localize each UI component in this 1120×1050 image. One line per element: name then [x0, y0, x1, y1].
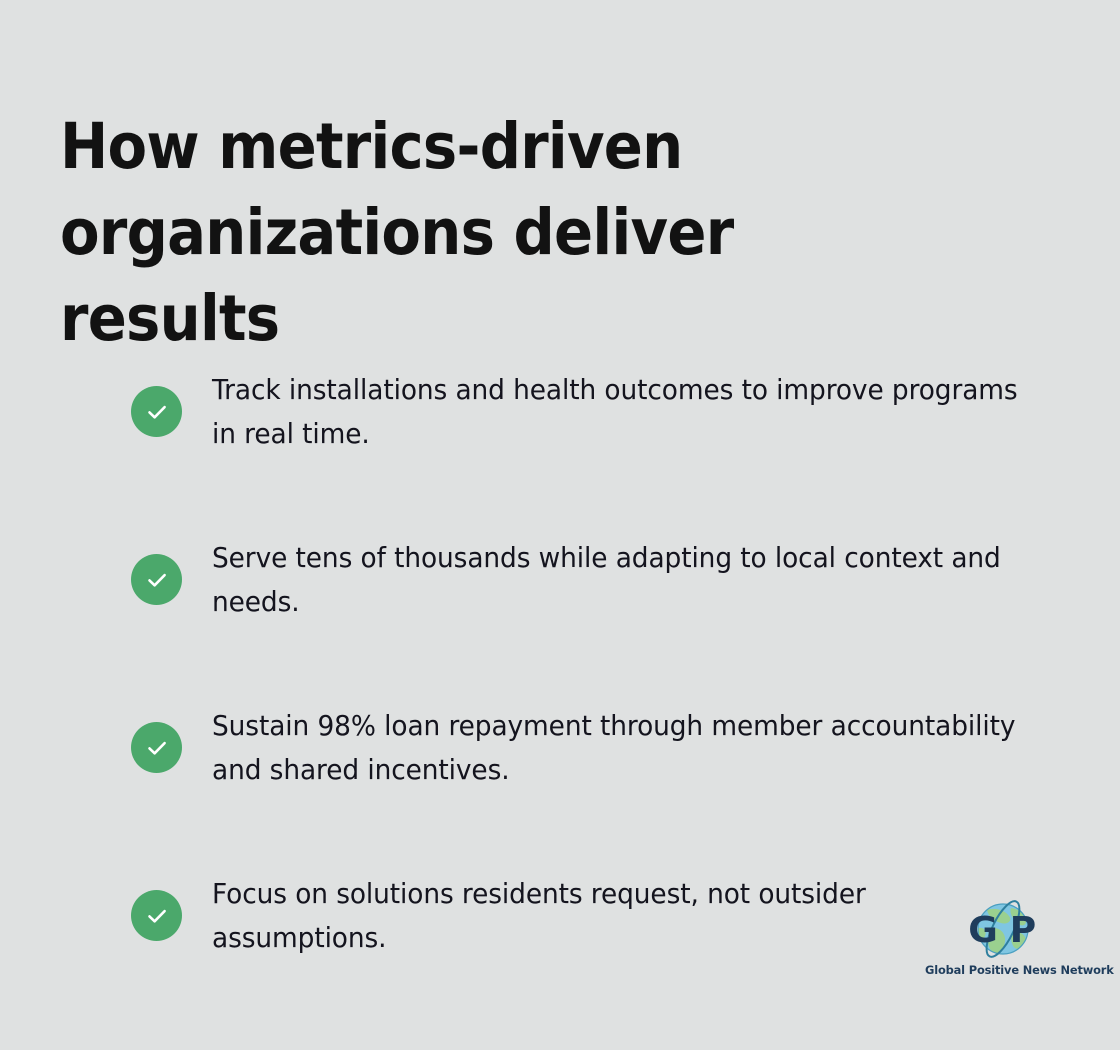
list-item: Track installations and health outcomes …	[131, 364, 1061, 456]
check-icon	[131, 386, 182, 437]
page-title: How metrics-driven organizations deliver…	[60, 104, 938, 362]
list-item: Serve tens of thousands while adapting t…	[131, 532, 1061, 624]
check-icon	[131, 722, 182, 773]
logo-monogram-g: G	[968, 910, 998, 951]
slide-canvas: How metrics-driven organizations deliver…	[0, 0, 1120, 1050]
check-icon	[131, 554, 182, 605]
globe-logo-icon: G P	[925, 898, 1081, 964]
brand-logo: G P Global Positive News Network	[925, 898, 1081, 990]
list-item-label: Sustain 98% loan repayment through membe…	[212, 700, 1027, 792]
list-item-label: Focus on solutions residents request, no…	[212, 868, 1027, 960]
logo-wordmark: Global Positive News Network	[925, 963, 1081, 977]
title-block: How metrics-driven organizations deliver…	[60, 104, 1020, 362]
logo-monogram-p: P	[1010, 910, 1036, 951]
bullet-list: Track installations and health outcomes …	[131, 364, 1061, 960]
check-icon	[131, 890, 182, 941]
list-item-label: Track installations and health outcomes …	[212, 364, 1027, 456]
list-item: Sustain 98% loan repayment through membe…	[131, 700, 1061, 792]
list-item: Focus on solutions residents request, no…	[131, 868, 1061, 960]
list-item-label: Serve tens of thousands while adapting t…	[212, 532, 1027, 624]
